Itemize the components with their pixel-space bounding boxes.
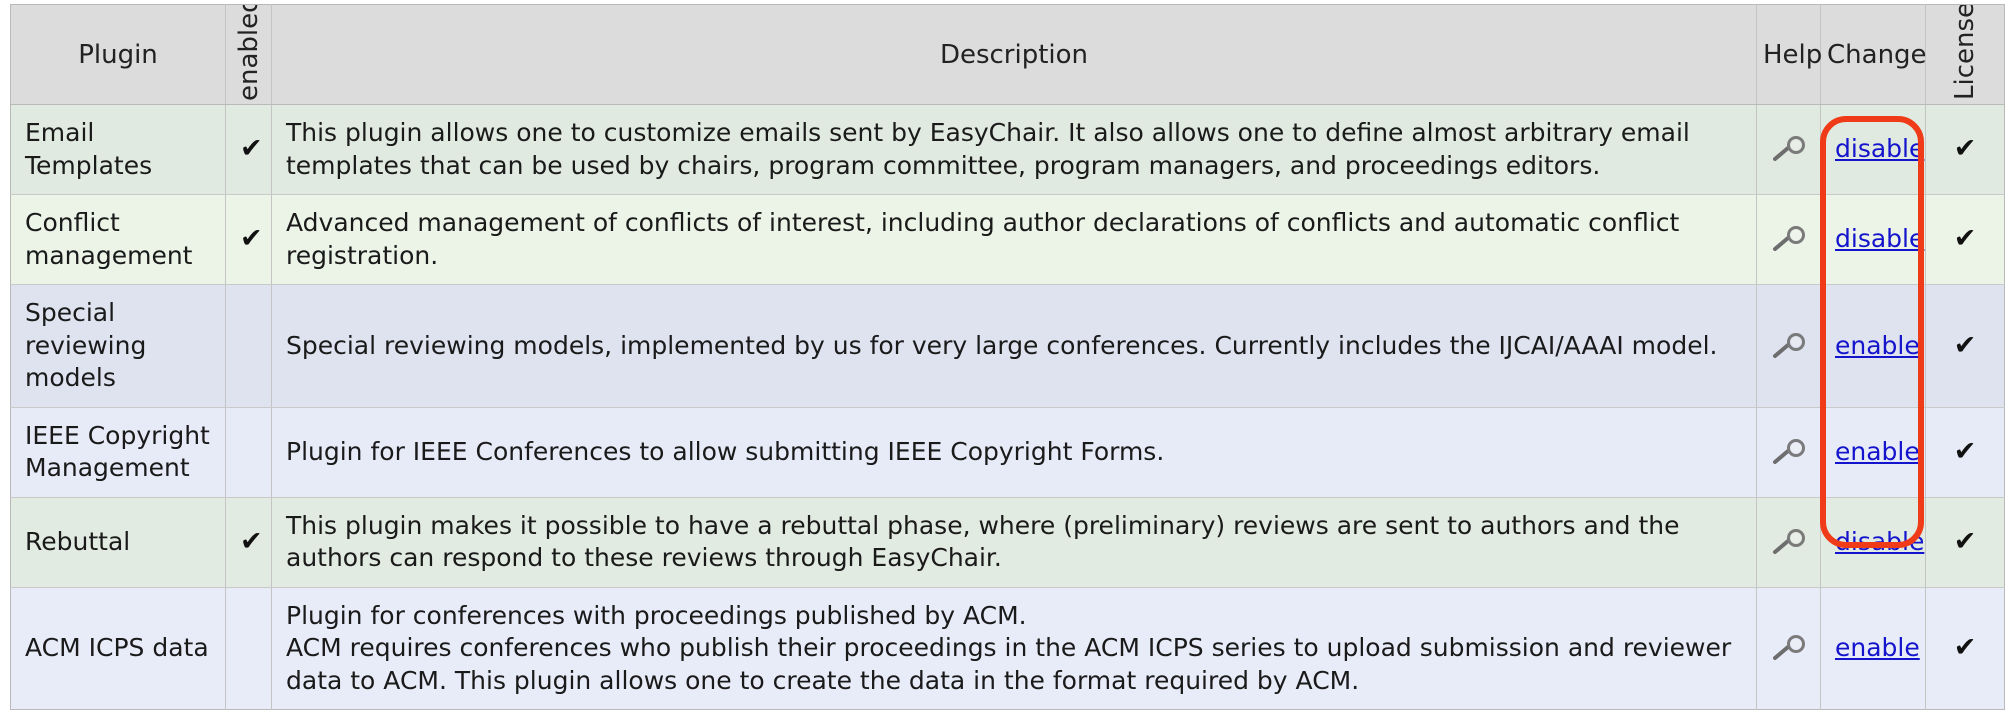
cell-change: disable [1821, 105, 1926, 195]
column-header-enabled-label: enabled? [236, 5, 262, 102]
cell-change: disable [1821, 497, 1926, 587]
cell-license: ✔ [1926, 195, 2005, 285]
cell-enabled: ✔ [226, 105, 272, 195]
cell-help[interactable] [1757, 195, 1821, 285]
column-header-plugin-label: Plugin [78, 40, 158, 70]
cell-enabled: ✔ [226, 497, 272, 587]
table-body: Email Templates✔This plugin allows one t… [11, 105, 2005, 710]
column-header-enabled[interactable]: enabled? [226, 5, 272, 105]
plugin-name: Conflict management [25, 208, 192, 270]
change-link[interactable]: enable [1835, 633, 1920, 662]
plugin-description: Plugin for IEEE Conferences to allow sub… [286, 436, 1742, 469]
table-row: ACM ICPS dataPlugin for conferences with… [11, 587, 2005, 710]
cell-plugin-name: Conflict management [11, 195, 226, 285]
cell-description: Plugin for IEEE Conferences to allow sub… [272, 407, 1757, 497]
cell-enabled [226, 407, 272, 497]
license-check-icon: ✔ [1954, 436, 1977, 467]
table-row: Conflict management✔Advanced management … [11, 195, 2005, 285]
plugin-name: Email Templates [25, 118, 152, 180]
cell-change: disable [1821, 195, 1926, 285]
magnifier-icon[interactable] [1771, 527, 1811, 556]
cell-change: enable [1821, 407, 1926, 497]
plugin-description: This plugin makes it possible to have a … [286, 510, 1742, 575]
magnifier-icon[interactable] [1771, 224, 1811, 253]
cell-plugin-name: Special reviewing models [11, 285, 226, 408]
enabled-check-icon: ✔ [240, 133, 263, 164]
change-link[interactable]: disable [1835, 134, 1924, 163]
plugin-description: Plugin for conferences with proceedings … [286, 600, 1742, 698]
cell-help[interactable] [1757, 105, 1821, 195]
change-link[interactable]: enable [1835, 331, 1920, 360]
cell-plugin-name: Email Templates [11, 105, 226, 195]
column-header-description[interactable]: Description [272, 5, 1757, 105]
cell-enabled [226, 285, 272, 408]
cell-change: enable [1821, 285, 1926, 408]
column-header-help[interactable]: Help [1757, 5, 1821, 105]
enabled-check-icon: ✔ [240, 526, 263, 557]
license-check-icon: ✔ [1954, 223, 1977, 254]
plugin-name: Rebuttal [25, 527, 130, 556]
plugin-description: This plugin allows one to customize emai… [286, 117, 1742, 182]
cell-description: Advanced management of conflicts of inte… [272, 195, 1757, 285]
cell-help[interactable] [1757, 497, 1821, 587]
table-row: IEEE Copyright ManagementPlugin for IEEE… [11, 407, 2005, 497]
cell-enabled [226, 587, 272, 710]
column-header-license-label: License [1952, 5, 1978, 102]
column-header-plugin[interactable]: Plugin [11, 5, 226, 105]
license-check-icon: ✔ [1954, 632, 1977, 663]
cell-plugin-name: IEEE Copyright Management [11, 407, 226, 497]
cell-help[interactable] [1757, 285, 1821, 408]
cell-description: Special reviewing models, implemented by… [272, 285, 1757, 408]
cell-license: ✔ [1926, 407, 2005, 497]
license-check-icon: ✔ [1954, 133, 1977, 164]
column-header-help-label: Help [1763, 40, 1822, 70]
change-link[interactable]: disable [1835, 224, 1924, 253]
cell-license: ✔ [1926, 587, 2005, 710]
cell-license: ✔ [1926, 497, 2005, 587]
license-check-icon: ✔ [1954, 330, 1977, 361]
change-link[interactable]: enable [1835, 437, 1920, 466]
plugin-name: Special reviewing models [25, 298, 146, 392]
column-header-license[interactable]: License [1926, 5, 2005, 105]
cell-plugin-name: Rebuttal [11, 497, 226, 587]
column-header-description-label: Description [940, 40, 1088, 70]
table-row: Email Templates✔This plugin allows one t… [11, 105, 2005, 195]
cell-plugin-name: ACM ICPS data [11, 587, 226, 710]
enabled-check-icon: ✔ [240, 223, 263, 254]
magnifier-icon[interactable] [1771, 331, 1811, 360]
magnifier-icon[interactable] [1771, 437, 1811, 466]
magnifier-icon[interactable] [1771, 134, 1811, 163]
cell-description: Plugin for conferences with proceedings … [272, 587, 1757, 710]
cell-change: enable [1821, 587, 1926, 710]
plugin-description: Special reviewing models, implemented by… [286, 330, 1742, 363]
magnifier-icon[interactable] [1771, 633, 1811, 662]
table-header-row: Plugin enabled? Description Help Change … [11, 5, 2005, 105]
plugins-table: Plugin enabled? Description Help Change … [10, 4, 2005, 710]
table-row: Rebuttal✔This plugin makes it possible t… [11, 497, 2005, 587]
plugin-name: IEEE Copyright Management [25, 421, 210, 483]
license-check-icon: ✔ [1954, 526, 1977, 557]
cell-help[interactable] [1757, 587, 1821, 710]
table-row: Special reviewing modelsSpecial reviewin… [11, 285, 2005, 408]
change-link[interactable]: disable [1835, 527, 1924, 556]
cell-license: ✔ [1926, 105, 2005, 195]
plugin-name: ACM ICPS data [25, 633, 209, 662]
column-header-change-label: Change [1827, 40, 1927, 70]
cell-description: This plugin allows one to customize emai… [272, 105, 1757, 195]
cell-description: This plugin makes it possible to have a … [272, 497, 1757, 587]
plugin-description: Advanced management of conflicts of inte… [286, 207, 1742, 272]
cell-license: ✔ [1926, 285, 2005, 408]
cell-enabled: ✔ [226, 195, 272, 285]
table-header: Plugin enabled? Description Help Change … [11, 5, 2005, 105]
column-header-change[interactable]: Change [1821, 5, 1926, 105]
cell-help[interactable] [1757, 407, 1821, 497]
plugins-page: Plugin enabled? Description Help Change … [0, 4, 2014, 724]
